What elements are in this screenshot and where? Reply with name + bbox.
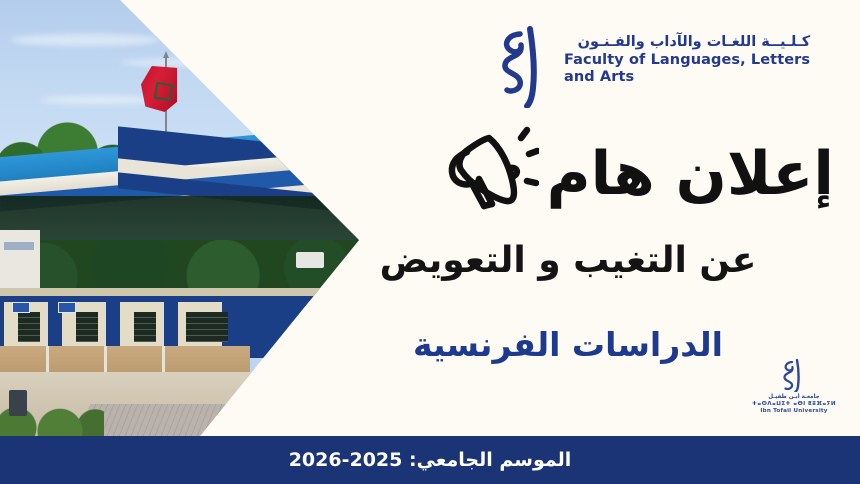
classroom-window (18, 312, 40, 342)
megaphone-icon (443, 126, 539, 222)
announcement-poster: كـلـيــة اللغـات والآداب والفـنـون Facul… (0, 0, 860, 484)
photo-canvas (0, 0, 360, 436)
cloud (40, 96, 160, 104)
headline-text: إعلان هام (547, 144, 834, 204)
university-name-block: جامعـة ابـن طفيـل ⵜⴰⵙⴷⴰⵡⵉⵜ ⴰⴱⵏ ⵟⵓⴼⴰⵢⵍ Ib… (746, 394, 842, 415)
faculty-name-arabic: كـلـيــة اللغـات والآداب والفـنـون (564, 34, 810, 52)
classroom-window (134, 312, 156, 342)
flag-star (154, 82, 174, 102)
university-name-arabic: جامعـة ابـن طفيـل (746, 394, 842, 401)
faculty-name-english-line1: Faculty of Languages, Letters (564, 52, 810, 70)
classroom-window (186, 312, 228, 342)
footer-bar: الموسم الجامعي: 2025-2026 (0, 436, 860, 484)
cloud (120, 58, 310, 67)
faculty-calligraphy-mark-icon (500, 26, 552, 108)
door-sign (12, 302, 30, 313)
ibn-tofail-university-mark: جامعـة ابـن طفيـل ⵜⴰⵙⴷⴰⵡⵉⵜ ⴰⴱⵏ ⵟⵓⴼⴰⵢⵍ Ib… (746, 358, 842, 415)
ibn-tofail-calligraphy-mark-icon (746, 358, 842, 392)
faculty-name-block: كـلـيــة اللغـات والآداب والفـنـون Facul… (564, 26, 810, 87)
academic-year-text: الموسم الجامعي: 2025-2026 (289, 449, 572, 471)
cloud (10, 34, 160, 46)
trash-bin (9, 390, 27, 416)
faculty-building-photo (0, 0, 360, 436)
headline-row: إعلان هام (443, 126, 834, 222)
faculty-header: كـلـيــة اللغـات والآداب والفـنـون Facul… (500, 26, 810, 108)
cloud (200, 22, 310, 32)
far-building (0, 230, 40, 288)
university-name-english: Ibn Tofail University (746, 408, 842, 415)
door-sign (58, 302, 76, 313)
classroom-window (76, 312, 98, 342)
university-name-tifinagh: ⵜⴰⵙⴷⴰⵡⵉⵜ ⴰⴱⵏ ⵟⵓⴼⴰⵢⵍ (746, 401, 842, 408)
paving-stones (78, 404, 281, 436)
subline-text: عن التغيب و التعويض (308, 240, 828, 281)
faculty-name-english-line2: and Arts (564, 69, 810, 87)
